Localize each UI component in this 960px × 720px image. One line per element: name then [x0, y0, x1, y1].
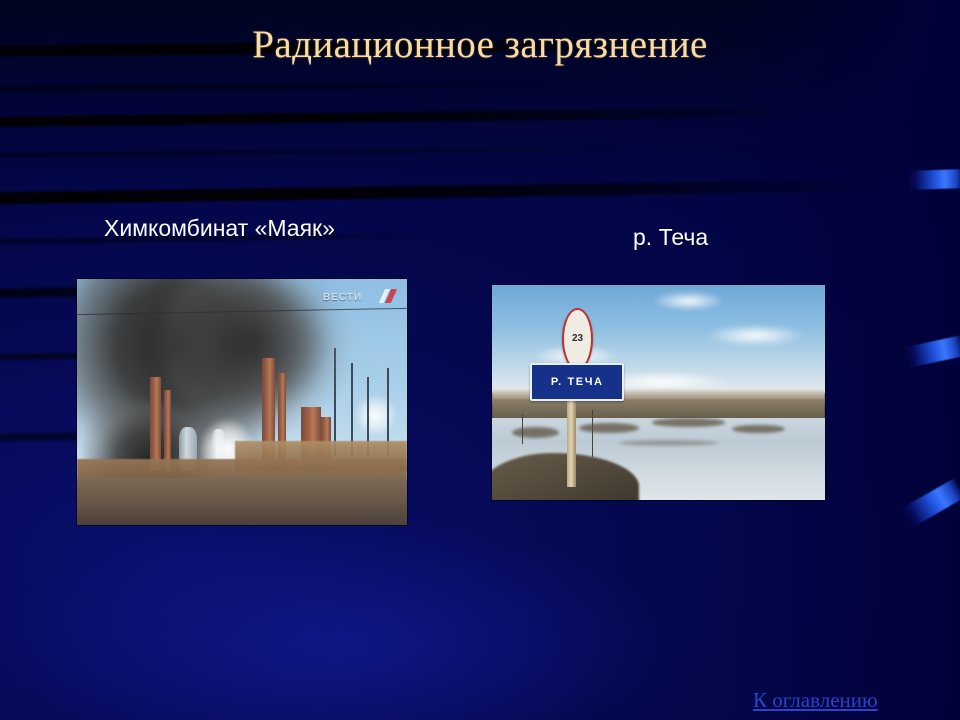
caption-mayak: Химкомбинат «Маяк»: [104, 215, 335, 242]
slide: Радиационное загрязнение Химкомбинат «Ма…: [0, 0, 960, 720]
river-name-sign-text: Р. ТЕЧА: [551, 376, 604, 388]
river-name-sign: Р. ТЕЧА: [530, 363, 624, 400]
vesti-watermark-text: ВЕСТИ: [323, 292, 362, 303]
photo-content-right: 23 Р. ТЕЧА: [492, 285, 825, 500]
refinery-stack: [150, 377, 162, 470]
mud-patch: [579, 423, 639, 434]
mayak-chemical-plant-photo[interactable]: ВЕСТИ: [77, 279, 407, 525]
stake: [592, 410, 594, 457]
ground-layer: [77, 478, 407, 525]
cloud: [652, 291, 725, 310]
steam-plume: [354, 395, 397, 437]
speed-limit-sign: 23: [562, 308, 593, 370]
vesti-watermark: ВЕСТИ: [323, 289, 401, 306]
caption-techa: р. Теча: [633, 224, 708, 251]
table-of-contents-link[interactable]: К оглавлению: [753, 688, 878, 713]
techa-river-photo[interactable]: 23 Р. ТЕЧА: [492, 285, 825, 500]
ribbon-accent-1: [908, 169, 960, 190]
stake: [522, 414, 524, 444]
mud-patch: [512, 427, 559, 438]
vesti-swoosh-logo-icon: [370, 289, 403, 303]
photo-content-left: ВЕСТИ: [77, 279, 407, 525]
cloud: [705, 324, 805, 348]
slide-title: Радиационное загрязнение: [0, 22, 960, 67]
mud-patch: [652, 418, 725, 427]
speed-limit-value: 23: [572, 333, 583, 344]
